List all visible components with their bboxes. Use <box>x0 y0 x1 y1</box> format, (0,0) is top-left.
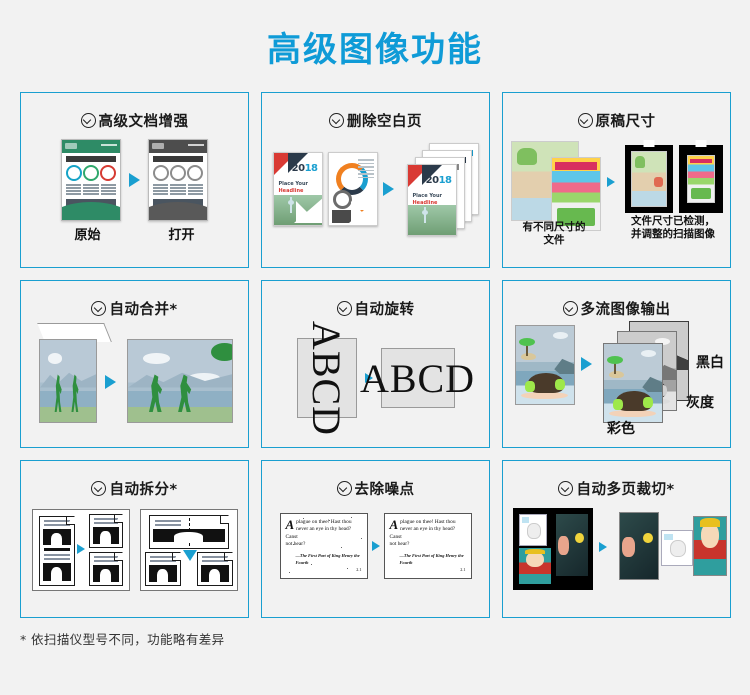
card-remove-blank-page[interactable]: 删除空白页 2018 Place Your Headline Here <box>261 92 490 268</box>
card-body <box>21 509 248 591</box>
card-title: 多流图像输出 <box>503 281 730 319</box>
text-sample-noisy: A plague on thee! Hast thou never an eye… <box>280 513 368 579</box>
brochure-cover: 2018 Place Your Headline Here <box>273 152 323 226</box>
feature-card-grid: 高级文档增强 <box>20 92 732 618</box>
caption-after: 打开 <box>153 228 211 244</box>
size-detect-row: 有不同尺寸的文件 文件尺寸已检测，并调整的扫描图像 <box>503 137 730 245</box>
card-title-text: 多流图像输出 <box>581 298 671 319</box>
merge-input-image <box>39 339 97 423</box>
brochure-row: 2018 Place Your Headline Here <box>262 140 489 238</box>
card-title-text: 高级文档增强 <box>99 110 189 131</box>
stream-source-image <box>515 325 575 405</box>
before-after-row <box>21 139 248 221</box>
multi-crop-row <box>503 504 730 602</box>
transform-arrow-icon <box>581 357 592 371</box>
card-auto-merge[interactable]: 自动合并* <box>20 280 249 448</box>
transform-arrow-icon <box>77 544 85 554</box>
label-black-white: 黑白 <box>696 355 724 373</box>
card-title-text: 删除空白页 <box>347 110 422 131</box>
card-body: 黑白 灰度 彩色 <box>503 319 730 441</box>
card-title: 高级文档增强 <box>21 93 248 131</box>
card-body: 2018 Place Your Headline Here <box>262 140 489 238</box>
caption-scanned-result: 文件尺寸已检测，并调整的扫描图像 <box>617 215 729 241</box>
check-circle-icon <box>337 301 352 316</box>
card-title-text: 去除噪点 <box>355 478 415 499</box>
check-circle-icon <box>329 113 344 128</box>
brochure-infographic <box>328 152 378 226</box>
check-circle-icon <box>91 301 106 316</box>
transform-arrow-icon <box>383 182 394 196</box>
rotated-sample-after: ABCD <box>381 348 455 408</box>
check-circle-icon <box>337 481 352 496</box>
page-root: 高级图像功能 高级文档增强 <box>0 0 750 695</box>
card-body: ABCD ABCD <box>262 319 489 437</box>
card-title: 自动合并* <box>21 281 248 319</box>
card-title: 自动多页裁切* <box>503 461 730 499</box>
card-advanced-document-enhancement[interactable]: 高级文档增强 <box>20 92 249 268</box>
transform-arrow-icon <box>105 375 116 389</box>
rotated-sample-before: ABCD <box>297 338 357 418</box>
card-title: 自动旋转 <box>262 281 489 319</box>
transform-arrow-icon <box>183 550 197 561</box>
scanned-output-large <box>625 145 673 213</box>
card-auto-split[interactable]: 自动拆分* <box>20 460 249 618</box>
card-title: 去除噪点 <box>262 461 489 499</box>
card-title: 自动拆分* <box>21 461 248 499</box>
caption-before: 原始 <box>59 228 117 244</box>
split-diagram-vertical <box>32 509 130 591</box>
card-title-text: 自动旋转 <box>355 298 415 319</box>
transform-arrow-icon <box>372 541 380 551</box>
check-circle-icon <box>578 113 593 128</box>
caption-source-documents: 有不同尺寸的文件 <box>507 221 601 247</box>
card-body <box>21 319 248 437</box>
card-title: 删除空白页 <box>262 93 489 131</box>
card-title-text: 原稿尺寸 <box>596 110 656 131</box>
brochure-stack: 2018 Place Your Headline Here <box>399 143 479 235</box>
check-circle-icon <box>563 301 578 316</box>
cropped-photo-2 <box>661 530 693 566</box>
check-circle-icon <box>81 113 96 128</box>
check-circle-icon <box>91 481 106 496</box>
card-title: 原稿尺寸 <box>503 93 730 131</box>
cropped-photo-1 <box>619 512 659 580</box>
card-despeckle[interactable]: 去除噪点 A plague on thee! Hast thou never a… <box>261 460 490 618</box>
card-title-text: 自动拆分* <box>109 478 177 499</box>
page-title: 高级图像功能 <box>0 0 750 73</box>
scanned-output-small <box>679 145 723 213</box>
card-body: 原始 打开 <box>21 139 248 244</box>
card-body: A plague on thee! Hast thou never an eye… <box>262 513 489 579</box>
card-auto-multi-crop[interactable]: 自动多页裁切* <box>502 460 731 618</box>
card-body: 有不同尺寸的文件 文件尺寸已检测，并调整的扫描图像 <box>503 137 730 245</box>
source-small-document <box>551 157 601 231</box>
document-enhanced-sample <box>148 139 208 221</box>
label-color: 彩色 <box>607 421 635 439</box>
card-multi-stream-output[interactable]: 多流图像输出 黑白 <box>502 280 731 448</box>
transform-arrow-icon <box>607 177 615 187</box>
card-auto-rotate[interactable]: 自动旋转 ABCD ABCD <box>261 280 490 448</box>
card-body <box>503 504 730 602</box>
text-sample-clean: A plague on thee! Hast thou never an eye… <box>384 513 472 579</box>
footnote: * 依扫描仪型号不同，功能略有差异 <box>20 629 225 648</box>
scan-bed-composite <box>513 508 593 590</box>
merge-output-image <box>127 339 233 423</box>
card-title-text: 自动多页裁切* <box>576 478 674 499</box>
cropped-photo-3 <box>693 516 727 576</box>
check-circle-icon <box>558 481 573 496</box>
before-after-captions: 原始 打开 <box>21 228 248 244</box>
card-title-text: 自动合并* <box>109 298 177 319</box>
transform-arrow-icon <box>599 542 607 552</box>
split-diagram-horizontal <box>140 509 238 591</box>
stream-output-color <box>603 343 663 423</box>
document-color-sample <box>61 139 121 221</box>
transform-arrow-icon <box>129 173 140 187</box>
label-grayscale: 灰度 <box>686 395 714 413</box>
card-original-document-size[interactable]: 原稿尺寸 有不同尺寸的文件 <box>502 92 731 268</box>
